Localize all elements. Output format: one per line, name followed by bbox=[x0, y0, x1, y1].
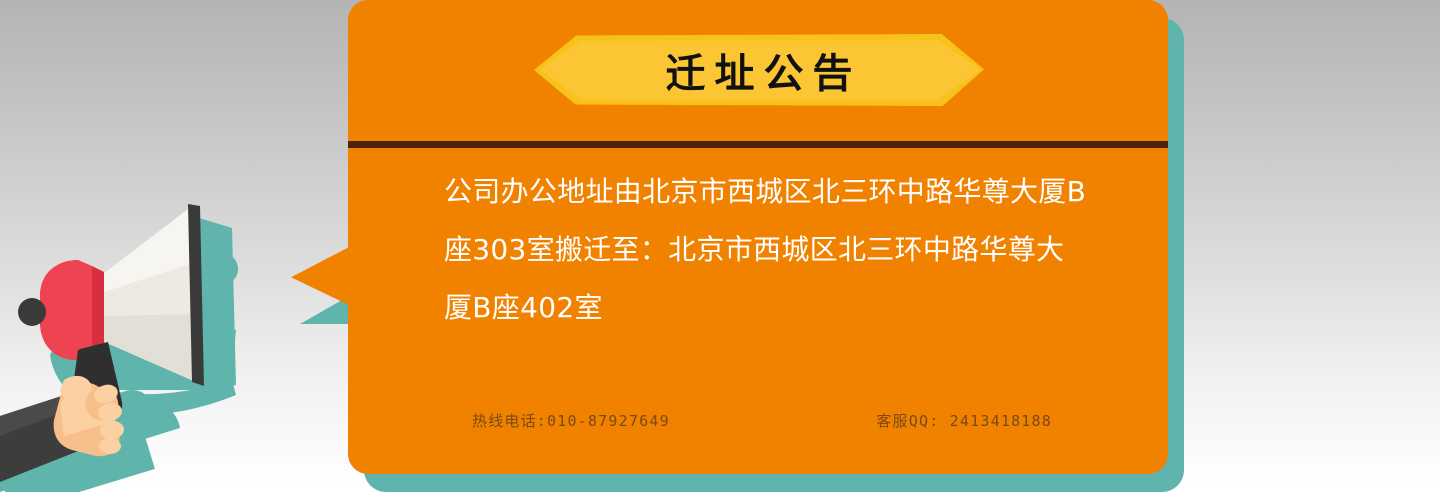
megaphone-illustration bbox=[0, 190, 300, 492]
hotline-text: 热线电话:010-87927649 bbox=[472, 410, 670, 431]
announcement-banner: 迁址公告 公司办公地址由北京市西城区北三环中路华尊大厦B座303室搬迁至：北京市… bbox=[0, 0, 1440, 492]
qq-text: 客服QQ: 2413418188 bbox=[876, 410, 1052, 431]
contact-footer: 热线电话:010-87927649 客服QQ: 2413418188 bbox=[444, 410, 1090, 431]
header-divider bbox=[348, 141, 1168, 148]
title-banner: 迁址公告 bbox=[534, 34, 984, 106]
announcement-body: 公司办公地址由北京市西城区北三环中路华尊大厦B座303室搬迁至：北京市西城区北三… bbox=[444, 163, 1090, 337]
banner-title-text: 迁址公告 bbox=[534, 34, 984, 106]
megaphone-icon bbox=[0, 190, 300, 492]
speech-tail bbox=[291, 245, 353, 307]
